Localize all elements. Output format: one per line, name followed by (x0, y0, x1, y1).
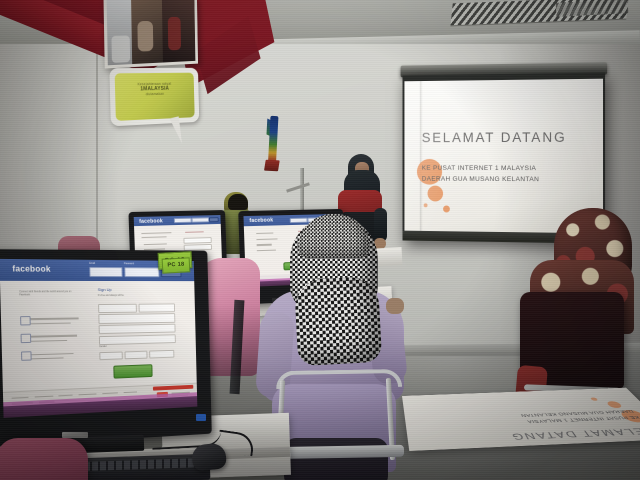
signup-subtitle: It's free and always will be. (98, 295, 124, 297)
feature-a1 (30, 318, 79, 320)
footer-link-1[interactable] (12, 397, 29, 399)
headline-text: Connect with friends and the world aroun… (19, 291, 76, 298)
feature-icon-3 (21, 352, 32, 361)
banner-title: SELAMAT DATANG (508, 426, 640, 442)
birthday-day-select[interactable] (124, 350, 147, 359)
right-hand (386, 298, 404, 314)
banner-accent-circle-medium (605, 401, 623, 408)
numeral-stem (268, 116, 278, 162)
sign-up-button[interactable] (113, 365, 153, 379)
mobile-or-email-input[interactable] (98, 313, 175, 324)
email-field[interactable] (174, 218, 192, 223)
footer-link-2[interactable] (34, 396, 52, 398)
facebook-logo-a: facebook (12, 264, 51, 274)
feature-icon-2 (20, 334, 31, 343)
new-password-input[interactable] (99, 334, 176, 345)
facebook-signup-page: facebook Email Password Connect with fri… (0, 259, 197, 418)
birthday-year-select[interactable] (149, 349, 175, 358)
feature-a1b (30, 322, 71, 324)
password-field[interactable] (192, 218, 209, 223)
floor-banner: SELAMAT DATANG KE PUSAT INTERNET 1 MALAY… (402, 388, 640, 451)
headline-line (141, 232, 171, 234)
chair-pink[interactable] (0, 438, 88, 480)
slide-subtitle-line-1: KE PUSAT INTERNET 1 MALAYSIA (422, 165, 537, 172)
photo-figure-c (111, 36, 130, 63)
patterned-hijab-crown (298, 214, 370, 258)
slide-accent-circle-medium (428, 186, 444, 202)
signup-heading-line (185, 231, 204, 233)
reenter-email-input[interactable] (99, 324, 176, 335)
footer-link-6[interactable] (123, 391, 136, 393)
feature-a2b (31, 340, 68, 342)
footer-link-5[interactable] (102, 392, 117, 394)
patterned-hijab-drape (294, 276, 382, 366)
framed-photo (103, 0, 198, 69)
facebook-signup-body: Connect with friends and the world aroun… (0, 281, 197, 392)
password-input[interactable] (124, 267, 160, 277)
slide-subtitle-line-2: DAERAH GUA MUSANG KELANTAN (422, 176, 539, 183)
email-input[interactable] (89, 267, 122, 277)
gender-label: Gender (99, 346, 107, 348)
asset-tag-pc18-b: PC 18 (162, 257, 191, 273)
feature-a2 (31, 335, 78, 337)
feature-line-1 (144, 243, 167, 245)
first-name-input[interactable] (98, 303, 136, 313)
monitor-power-led-icon (196, 414, 206, 421)
slide-title: SELAMAT DATANG (422, 130, 591, 146)
monitor-front-left[interactable]: facebook Email Password Connect with fri… (0, 249, 212, 447)
speech-bubble-wall-decal: Kesejahteraan rakyat 1MALAYSIA diutamaka… (109, 68, 199, 126)
feature-a3b (31, 357, 64, 359)
footer-link-3[interactable] (59, 395, 73, 397)
photo-figure-a (137, 21, 153, 52)
asset-tag-label-b: PC 18 (163, 258, 190, 272)
photo-figure-b (168, 17, 181, 51)
footer-link-4[interactable] (79, 393, 97, 395)
feature-icon-1 (20, 316, 31, 325)
slide-accent-circle-tiny (424, 203, 428, 207)
headline-line-2 (142, 236, 167, 238)
facebook-logo: facebook (139, 218, 163, 225)
notification-banner[interactable] (153, 384, 193, 390)
speech-bubble-text: Kesejahteraan rakyat 1MALAYSIA diutamaka… (122, 82, 186, 98)
slide-accent-circle-small (443, 205, 450, 212)
banner-accent-circle-small (590, 397, 599, 400)
password-label: Password (124, 262, 134, 265)
black-skirt (284, 438, 388, 480)
chair-chrome-backrest[interactable] (276, 369, 402, 389)
training-room-photo: Kesejahteraan rakyat 1MALAYSIA diutamaka… (0, 0, 640, 480)
birthday-month-select[interactable] (99, 351, 122, 360)
monitor-front-left-screen[interactable]: facebook Email Password Connect with fri… (0, 259, 197, 418)
signup-title: Sign Up (98, 287, 112, 292)
feature-a3 (31, 352, 74, 355)
signup-first-name[interactable] (184, 237, 212, 244)
email-label: Email (89, 262, 95, 265)
floor-banner-print: SELAMAT DATANG KE PUSAT INTERNET 1 MALAY… (402, 388, 640, 451)
last-name-input[interactable] (138, 303, 175, 313)
numeral-base (264, 160, 280, 172)
login-button[interactable] (209, 217, 219, 222)
olive-hair (228, 194, 248, 210)
